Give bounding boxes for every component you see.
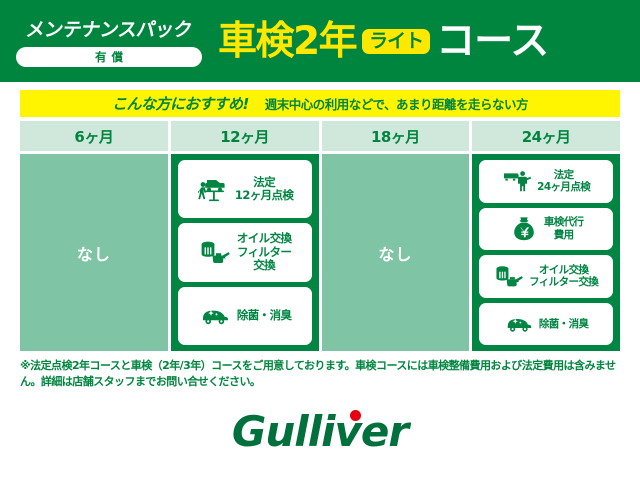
service-card: 法定 24ヶ月点検 xyxy=(479,160,613,203)
header-bar: メンテナンスパック 有償 車検2年 ライト コース xyxy=(0,0,640,82)
maintenance-pack-block: メンテナンスパック 有償 xyxy=(16,15,202,67)
maintenance-pack-title: メンテナンスパック xyxy=(24,15,194,42)
service-card: 車検代行 費用 xyxy=(479,208,613,251)
car-lift-inspection-icon xyxy=(196,176,230,202)
course-suffix-label: コース xyxy=(436,22,548,61)
oil-filter-change-icon xyxy=(198,239,232,265)
course-title-block: 車検2年 ライト コース xyxy=(218,22,624,61)
service-label: オイル交換 フィルター 交換 xyxy=(237,232,292,273)
column-header-12months: 12ヶ月 xyxy=(171,121,319,151)
column-header-24months: 24ヶ月 xyxy=(472,121,620,151)
service-card: オイル交換 フィルター交換 xyxy=(479,255,613,298)
content-area: こんな方におすすめ! 週末中心の利用などで、あまり距離を走らない方 6ヶ月 12… xyxy=(0,82,640,456)
money-bag-yen-icon xyxy=(509,216,539,242)
light-course-badge: ライト xyxy=(362,29,430,54)
recommendation-lead-text: こんな方におすすめ! xyxy=(112,93,249,114)
car-inspection-staff-icon xyxy=(502,170,532,192)
service-card: 法定 12ヶ月点検 xyxy=(178,160,312,218)
column-body-18months: なし xyxy=(322,154,470,351)
service-label: 法定 12ヶ月点検 xyxy=(235,176,293,203)
service-label: オイル交換 フィルター交換 xyxy=(529,264,598,289)
recommendation-detail-text: 週末中心の利用などで、あまり距離を走らない方 xyxy=(265,94,528,113)
maintenance-schedule-table: 6ヶ月 12ヶ月 18ヶ月 24ヶ月 なし xyxy=(20,121,620,351)
column-header-6months: 6ヶ月 xyxy=(20,121,168,151)
service-label: 車検代行 費用 xyxy=(544,216,584,241)
column-body-12months: 法定 12ヶ月点検 xyxy=(171,154,319,351)
brand-logo-area: Gulliver xyxy=(20,407,620,456)
column-header-18months: 18ヶ月 xyxy=(322,121,470,151)
service-card: オイル交換 フィルター 交換 xyxy=(178,223,312,281)
car-sanitize-icon xyxy=(198,306,232,326)
oil-filter-change-icon xyxy=(494,263,524,289)
column-body-24months: 法定 24ヶ月点検 車検代行 費用 xyxy=(472,154,620,351)
service-card: 除菌・消臭 xyxy=(479,303,613,346)
no-service-label: なし xyxy=(378,241,412,265)
service-label: 除菌・消臭 xyxy=(539,318,589,330)
gulliver-logo: Gulliver xyxy=(232,407,408,456)
no-service-label: なし xyxy=(77,241,111,265)
footnote-text: ※法定点検2年コースと車検（2年/3年）コースをご用意しております。車検コースに… xyxy=(20,358,620,390)
gulliver-logo-text: Gulliver xyxy=(232,407,408,456)
service-label: 法定 24ヶ月点検 xyxy=(537,169,590,194)
car-sanitize-icon xyxy=(504,314,534,334)
service-card: 除菌・消臭 xyxy=(178,287,312,345)
recommendation-banner: こんな方におすすめ! 週末中心の利用などで、あまり距離を走らない方 xyxy=(20,90,620,117)
paid-badge: 有償 xyxy=(16,47,202,67)
course-main-title: 車検2年 xyxy=(218,22,356,61)
service-label: 除菌・消臭 xyxy=(237,309,292,323)
logo-accent-dot-icon xyxy=(350,410,361,421)
column-body-6months: なし xyxy=(20,154,168,351)
